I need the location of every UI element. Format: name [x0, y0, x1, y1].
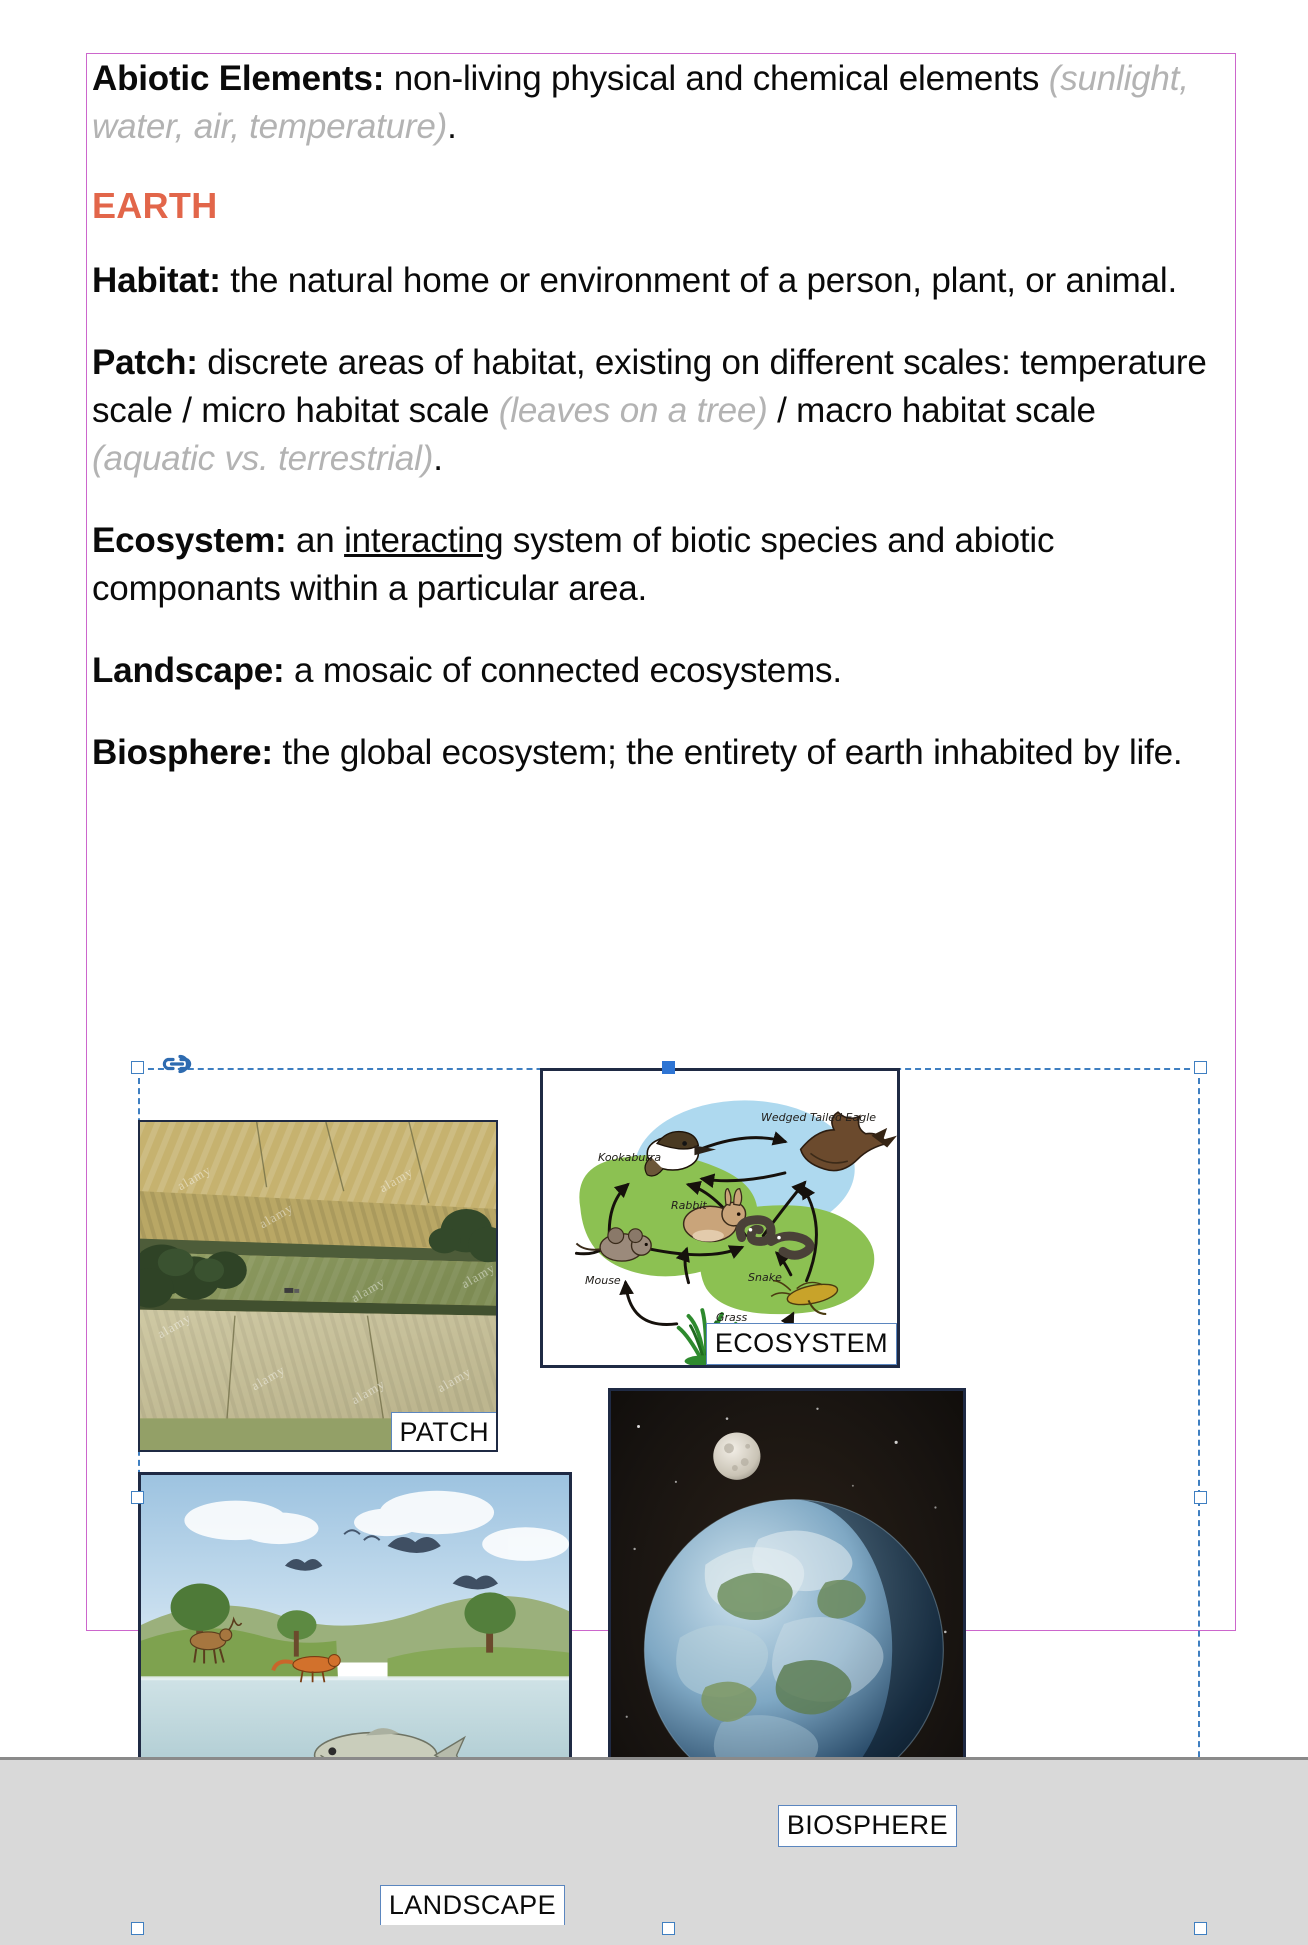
heading-earth: EARTH [92, 185, 1225, 227]
resize-handle-top-middle[interactable] [662, 1061, 675, 1074]
node-label-kookaburra: Kookaburra [598, 1151, 661, 1164]
term-habitat: Habitat: [92, 261, 221, 300]
resize-handle-top-right[interactable] [1194, 1061, 1207, 1074]
slide-text-body[interactable]: Abiotic Elements: non-living physical an… [88, 55, 1233, 811]
paragraph-abiotic: Abiotic Elements: non-living physical an… [92, 55, 1225, 151]
node-label-snake: Snake [748, 1271, 782, 1284]
paragraph-biosphere: Biosphere: the global ecosystem; the ent… [92, 729, 1225, 777]
abiotic-period: . [447, 107, 457, 146]
definition-landscape: a mosaic of connected ecosystems. [285, 651, 842, 690]
patch-period: . [433, 439, 443, 478]
ecosystem-pre: an [286, 521, 344, 560]
workspace-background [0, 1757, 1308, 1945]
term-biosphere: Biosphere: [92, 733, 273, 772]
paragraph-patch: Patch: discrete areas of habitat, existi… [92, 339, 1225, 483]
paragraph-landscape: Landscape: a mosaic of connected ecosyst… [92, 647, 1225, 695]
term-abiotic: Abiotic Elements: [92, 59, 384, 98]
resize-handle-middle-right[interactable] [1194, 1491, 1207, 1504]
emphasis-interacting: interacting [344, 521, 503, 560]
paragraph-habitat: Habitat: the natural home or environment… [92, 257, 1225, 305]
definition-habitat: the natural home or environment of a per… [221, 261, 1177, 300]
resize-handle-bottom-right[interactable] [1194, 1922, 1207, 1935]
example-micro-habitat: (leaves on a tree) [499, 391, 768, 430]
label-landscape[interactable]: LANDSCAPE [380, 1885, 565, 1927]
definition-abiotic: non-living physical and chemical element… [384, 59, 1049, 98]
patch-mid: / macro habitat scale [768, 391, 1096, 430]
term-ecosystem: Ecosystem: [92, 521, 286, 560]
link-group-icon[interactable] [160, 1053, 194, 1079]
picture-patch[interactable]: alamy alamy alamy alamy alamy alamy alam… [138, 1120, 498, 1452]
node-label-wedged-tailed-eagle: Wedged Tailed Eagle [761, 1111, 876, 1124]
example-macro-habitat: (aquatic vs. terrestrial) [92, 439, 433, 478]
label-ecosystem[interactable]: ECOSYSTEM [706, 1323, 897, 1365]
resize-handle-top-left[interactable] [131, 1061, 144, 1074]
node-label-mouse: Mouse [585, 1274, 621, 1287]
node-label-rabbit: Rabbit [671, 1199, 707, 1212]
resize-handle-bottom-middle[interactable] [662, 1922, 675, 1935]
term-landscape: Landscape: [92, 651, 285, 690]
label-biosphere[interactable]: BIOSPHERE [778, 1805, 957, 1847]
term-patch: Patch: [92, 343, 198, 382]
picture-ecosystem[interactable]: Kookaburra Wedged Tailed Eagle Rabbit Mo… [540, 1068, 900, 1368]
definition-biosphere: the global ecosystem; the entirety of ea… [273, 733, 1183, 772]
paragraph-ecosystem: Ecosystem: an interacting system of biot… [92, 517, 1225, 613]
resize-handle-bottom-left[interactable] [131, 1922, 144, 1935]
slide-canvas: Abiotic Elements: non-living physical an… [0, 0, 1308, 1942]
label-patch[interactable]: PATCH [391, 1412, 499, 1452]
resize-handle-middle-left[interactable] [131, 1491, 144, 1504]
